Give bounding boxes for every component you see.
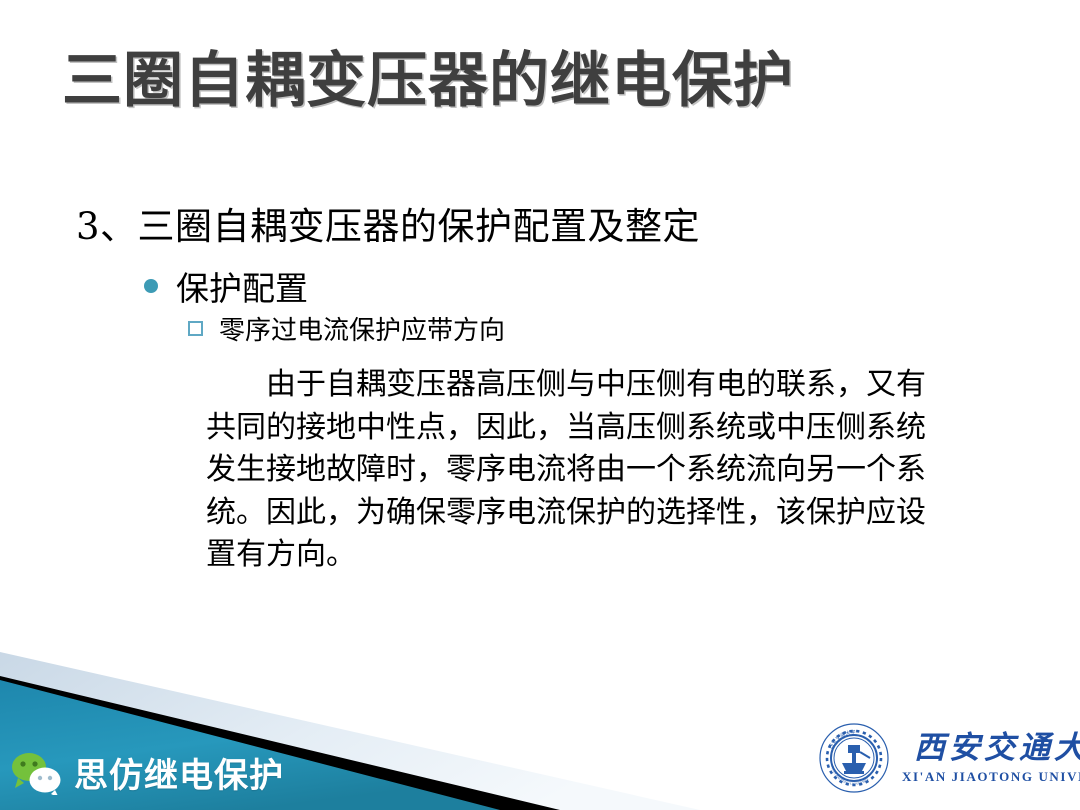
- paragraph-line: 置有方向。: [206, 534, 906, 577]
- xjtu-emblem-icon: 西安交通大学 XI AN JIAOTONG UNIVERSITY: [818, 722, 890, 794]
- square-bullet-icon: [188, 321, 203, 336]
- wechat-icon: [10, 751, 64, 795]
- section-heading: 3、三圈自耦变压器的保护配置及整定: [76, 196, 700, 250]
- bullet-level3: 零序过电流保护应带方向: [188, 310, 505, 347]
- university-logo: 西安交通大学 XI AN JIAOTONG UNIVERSITY 西安交通大学 …: [818, 722, 1080, 794]
- bullet-level2-label: 保护配置: [176, 262, 308, 310]
- watermark-label: 思仿继电保护: [74, 748, 284, 797]
- watermark: 思仿继电保护: [10, 748, 284, 797]
- slide-title: 三圈自耦变压器的继电保护: [62, 48, 1022, 115]
- presentation-slide: 三圈自耦变压器的继电保护 3、三圈自耦变压器的保护配置及整定 保护配置 零序过电…: [0, 0, 1080, 810]
- university-name-cn: 西安交通大学: [914, 733, 1080, 764]
- paragraph-line: 统。因此，为确保零序电流保护的选择性，该保护应设: [206, 492, 906, 535]
- body-paragraph: 由于自耦变压器高压侧与中压侧有电的联系，又有 共同的接地中性点，因此，当高压侧系…: [206, 364, 906, 577]
- university-name-en: XI'AN JIAOTONG UNIVERSITY: [902, 770, 1080, 783]
- paragraph-line: 共同的接地中性点，因此，当高压侧系统或中压侧系统: [206, 407, 906, 450]
- paragraph-line: 由于自耦变压器高压侧与中压侧有电的联系，又有: [206, 364, 906, 407]
- university-name-block: 西安交通大学 XI'AN JIAOTONG UNIVERSITY: [902, 733, 1080, 783]
- bullet-level3-label: 零序过电流保护应带方向: [219, 310, 505, 347]
- paragraph-line: 发生接地故障时，零序电流将由一个系统流向另一个系: [206, 449, 906, 492]
- bullet-level2: 保护配置: [144, 262, 308, 310]
- round-bullet-icon: [144, 279, 158, 293]
